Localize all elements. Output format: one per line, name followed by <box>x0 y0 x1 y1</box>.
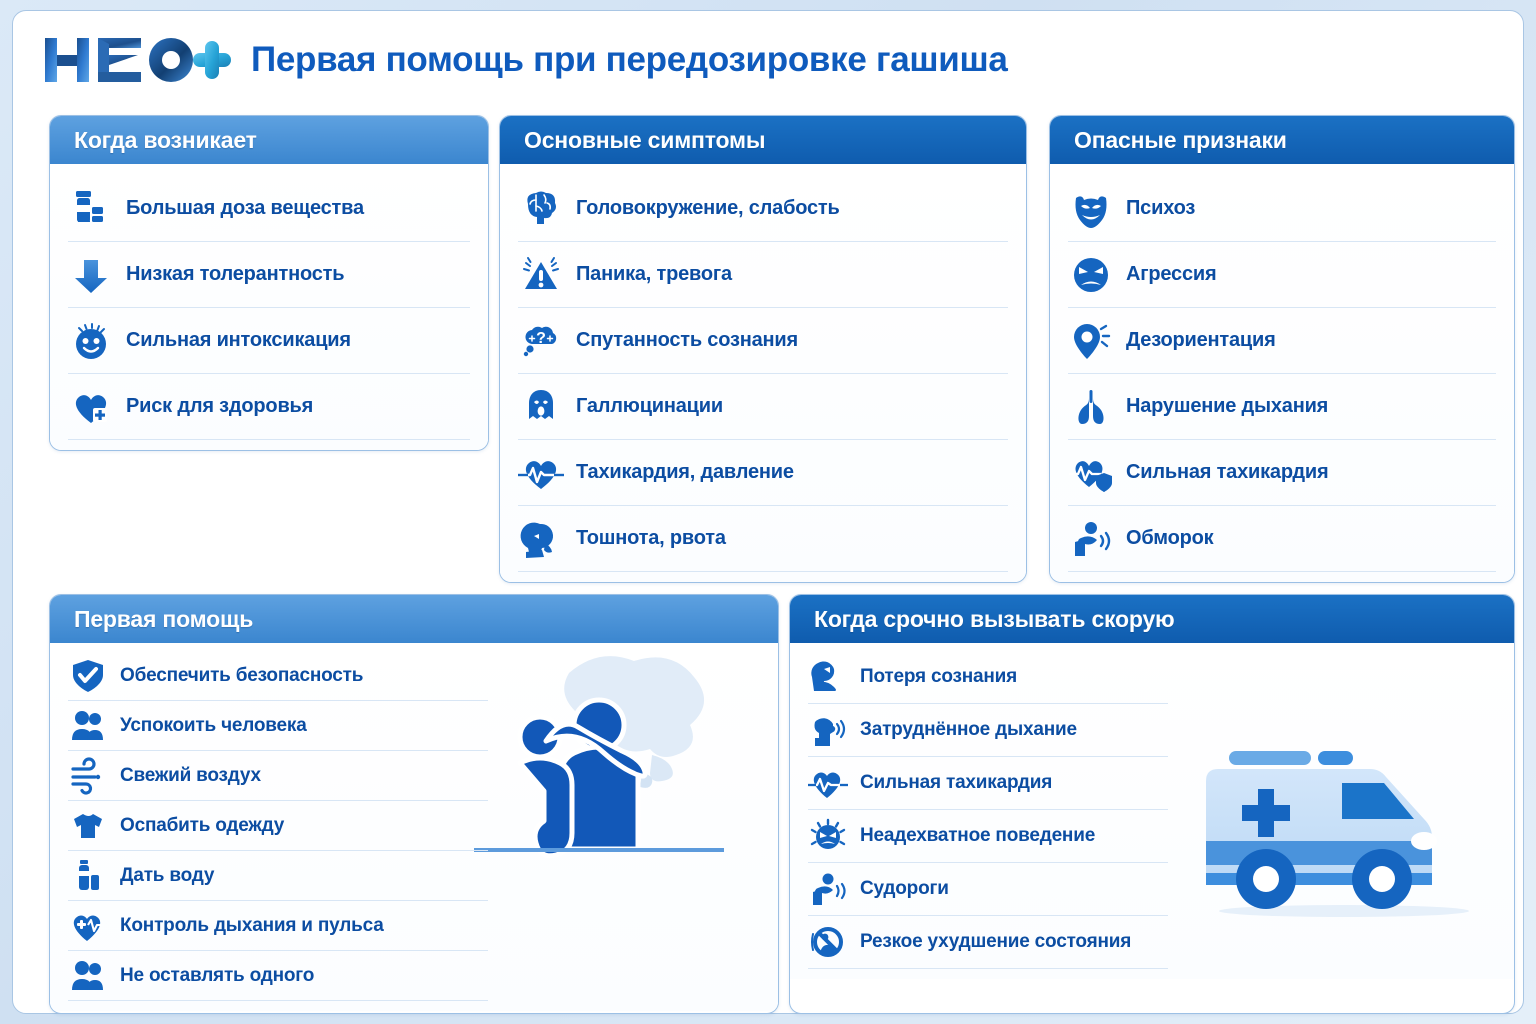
warning-triangle-icon <box>518 252 564 298</box>
ground-line <box>474 848 724 852</box>
first-aid-list: Обеспечить безопасность Успокоить челове… <box>68 651 488 1001</box>
unconscious-head-icon <box>808 657 848 697</box>
list-item-label: Риск для здоровья <box>126 395 313 418</box>
list-item-label: Дать воду <box>120 865 214 887</box>
list-item[interactable]: Риск для здоровья <box>68 374 470 440</box>
list-item[interactable]: Потеря сознания <box>808 651 1168 704</box>
ghost-icon <box>518 384 564 430</box>
light-bar-left <box>1229 751 1311 765</box>
list-item-label: Дезориентация <box>1126 329 1276 352</box>
down-arrow-icon <box>68 252 114 298</box>
neo-plus-logo <box>43 32 233 88</box>
list-item[interactable]: Судороги <box>808 863 1168 916</box>
location-pin-icon <box>1068 318 1114 364</box>
heart-cross-pulse-icon <box>68 906 108 946</box>
list-item[interactable]: Сильная тахикардия <box>1068 440 1496 506</box>
lower-stripe <box>1206 873 1432 885</box>
light-bar-right <box>1318 751 1353 765</box>
page-title: Первая помощь при передозировке гашиша <box>251 40 1008 80</box>
card-when-occurs-body: Большая доза вещества Низкая толерантнос… <box>50 164 488 450</box>
page-header: Первая помощь при передозировке гашиша <box>43 21 1008 99</box>
list-item-label: Успокоить человека <box>120 715 307 737</box>
list-item[interactable]: Нарушение дыхания <box>1068 374 1496 440</box>
logo-plus-icon <box>193 41 231 79</box>
wheel-front <box>1352 849 1412 909</box>
list-item[interactable]: Психоз <box>1068 176 1496 242</box>
list-item-label: Затруднённое дыхание <box>860 719 1077 741</box>
list-item-label: Оспабить одежду <box>120 815 284 837</box>
two-people-icon <box>68 956 108 996</box>
heart-cross-icon <box>68 384 114 430</box>
card-main-symptoms: Основные симптомы Головокружение, слабос… <box>499 115 1027 583</box>
call-ambulance-list: Потеря сознания <box>808 651 1168 969</box>
smoke-shape <box>564 656 704 757</box>
pill-bottle-icon <box>68 186 114 232</box>
list-item[interactable]: Резкое ухудшение состояния <box>808 916 1168 969</box>
card-when-occurs: Когда возникает Большая доза вещест <box>49 115 489 451</box>
list-item[interactable]: Обморок <box>1068 506 1496 572</box>
dizzy-face-icon <box>68 318 114 364</box>
list-item-label: Нарушение дыхания <box>1126 395 1328 418</box>
heart-pulse-shield-icon <box>1068 450 1114 496</box>
list-item[interactable]: Низкая толерантность <box>68 242 470 308</box>
list-item-label: Паника, тревога <box>576 263 732 286</box>
card-first-aid-body: Обеспечить безопасность Успокоить челове… <box>50 643 778 1011</box>
list-item-label: Неадехватное поведение <box>860 825 1095 847</box>
card-danger-signs-title: Опасные признаки <box>1050 116 1514 164</box>
logo-letter-h <box>45 38 89 82</box>
list-item-label: Судороги <box>860 878 949 900</box>
list-item-label: Психоз <box>1126 197 1195 220</box>
ambulance-body <box>1206 769 1432 883</box>
card-first-aid-title: Первая помощь <box>50 595 778 643</box>
vomiting-person-icon <box>518 516 564 562</box>
list-item-label: Потеря сознания <box>860 666 1017 688</box>
logo-letter-o <box>149 38 193 82</box>
heart-pulse-icon <box>808 763 848 803</box>
ambulance-icon <box>1194 733 1494 933</box>
wind-icon <box>68 756 108 796</box>
list-item-label: Сильная тахикардия <box>860 772 1052 794</box>
side-stripe <box>1206 841 1432 865</box>
list-item-label: Головокружение, слабость <box>576 197 840 220</box>
list-item[interactable]: Паника, тревога <box>518 242 1008 308</box>
list-item-label: Свежий воздух <box>120 765 261 787</box>
list-item[interactable]: Контроль дыхания и пульса <box>68 901 488 951</box>
list-item[interactable]: Сильная тахикардия <box>808 757 1168 810</box>
question-cloud-icon: ? <box>518 318 564 364</box>
card-call-ambulance-body: Потеря сознания <box>790 643 1514 979</box>
card-call-ambulance: Когда срочно вызывать скорую <box>789 594 1515 1014</box>
list-item-label: Спутанность сознания <box>576 329 798 352</box>
list-item[interactable]: Агрессия <box>1068 242 1496 308</box>
list-item-label: Резкое ухудшение состояния <box>860 931 1131 953</box>
evil-mask-icon <box>1068 186 1114 232</box>
list-item-label: Большая доза вещества <box>126 197 364 220</box>
breathing-head-icon <box>808 710 848 750</box>
list-item[interactable]: Тошнота, рвота <box>518 506 1008 572</box>
seizure-person-icon <box>808 869 848 909</box>
fainting-person-icon <box>1068 516 1114 562</box>
red-cross-symbol <box>1242 789 1290 837</box>
card-when-occurs-title: Когда возникает <box>50 116 488 164</box>
list-item-label: Не оставлять одного <box>120 965 314 987</box>
list-item[interactable]: Неадехватное поведение <box>808 810 1168 863</box>
wheel-rear <box>1236 849 1296 909</box>
headlight <box>1411 832 1437 850</box>
angry-face-icon <box>1068 252 1114 298</box>
list-item-label: Агрессия <box>1126 263 1216 286</box>
two-people-icon <box>68 706 108 746</box>
card-call-ambulance-title: Когда срочно вызывать скорую <box>790 595 1514 643</box>
logo-letter-e <box>98 38 141 82</box>
list-item[interactable]: Галлюцинации <box>518 374 1008 440</box>
list-item-label: Контроль дыхания и пульса <box>120 915 384 937</box>
list-item[interactable]: Обеспечить безопасность <box>68 651 488 701</box>
list-item-label: Сильная интоксикация <box>126 329 351 352</box>
brain-icon <box>518 186 564 232</box>
list-item-label: Тахикардия, давление <box>576 461 794 484</box>
list-item[interactable]: Дезориентация <box>1068 308 1496 374</box>
shadow <box>1219 905 1469 917</box>
card-first-aid: Первая помощь <box>49 594 779 1014</box>
list-item[interactable]: Успокоить человека <box>68 701 488 751</box>
tshirt-icon <box>68 806 108 846</box>
inner-frame: Первая помощь при передозировке гашиша К… <box>12 10 1524 1014</box>
list-item-label: Низкая толерантность <box>126 263 344 286</box>
list-item[interactable]: Затруднённое дыхание <box>808 704 1168 757</box>
list-item[interactable]: Свежий воздух <box>68 751 488 801</box>
list-item[interactable]: Большая доза вещества <box>68 176 470 242</box>
list-item[interactable]: Тахикардия, давление <box>518 440 1008 506</box>
lungs-icon <box>1068 384 1114 430</box>
infographic-page: Первая помощь при передозировке гашиша К… <box>0 0 1536 1024</box>
list-item-label: Галлюцинации <box>576 395 723 418</box>
card-danger-signs-body: Психоз Агрессия <box>1050 164 1514 582</box>
list-item[interactable]: Дать воду <box>68 851 488 901</box>
list-item-label: Обморок <box>1126 527 1213 550</box>
window <box>1342 783 1414 819</box>
svg-text:?: ? <box>536 330 546 347</box>
card-danger-signs: Опасные признаки Психоз <box>1049 115 1515 583</box>
heart-pulse-icon <box>518 450 564 496</box>
two-people-supporting-icon <box>474 643 764 913</box>
card-main-symptoms-title: Основные симптомы <box>500 116 1026 164</box>
angry-burst-face-icon <box>808 816 848 856</box>
list-item[interactable]: ? Спутанность сознания <box>518 308 1008 374</box>
no-entry-person-icon <box>808 922 848 962</box>
shield-check-icon <box>68 656 108 696</box>
list-item[interactable]: Головокружение, слабость <box>518 176 1008 242</box>
list-item[interactable]: Сильная интоксикация <box>68 308 470 374</box>
list-item-label: Тошнота, рвота <box>576 527 726 550</box>
list-item-label: Сильная тахикардия <box>1126 461 1328 484</box>
card-main-symptoms-body: Головокружение, слабость <box>500 164 1026 582</box>
list-item-label: Обеспечить безопасность <box>120 665 363 687</box>
list-item[interactable]: Оспабить одежду <box>68 801 488 851</box>
list-item[interactable]: Не оставлять одного <box>68 951 488 1001</box>
water-bottle-icon <box>68 856 108 896</box>
